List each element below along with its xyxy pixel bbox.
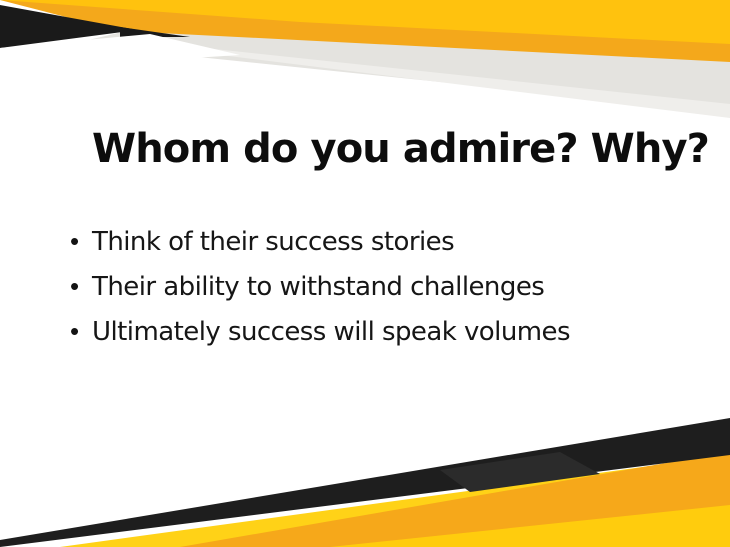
- page-title: Whom do you admire? Why?: [92, 127, 672, 172]
- bullet-point-icon: •: [70, 273, 92, 299]
- list-item: • Their ability to withstand challenges: [70, 271, 690, 305]
- slide-canvas: Whom do you admire? Why? • Think of thei…: [0, 0, 730, 547]
- bullet-point-icon: •: [70, 318, 92, 344]
- bullet-point-icon: •: [70, 228, 92, 254]
- bullet-item-label: Their ability to withstand challenges: [92, 271, 690, 305]
- bullet-item-label: Ultimately success will speak volumes: [92, 316, 690, 350]
- list-item: • Ultimately success will speak volumes: [70, 316, 690, 350]
- list-item: • Think of their success stories: [70, 226, 690, 260]
- bullet-list: • Think of their success stories • Their…: [70, 226, 690, 360]
- bullet-item-label: Think of their success stories: [92, 226, 690, 260]
- slide-content: Whom do you admire? Why? • Think of thei…: [0, 0, 730, 547]
